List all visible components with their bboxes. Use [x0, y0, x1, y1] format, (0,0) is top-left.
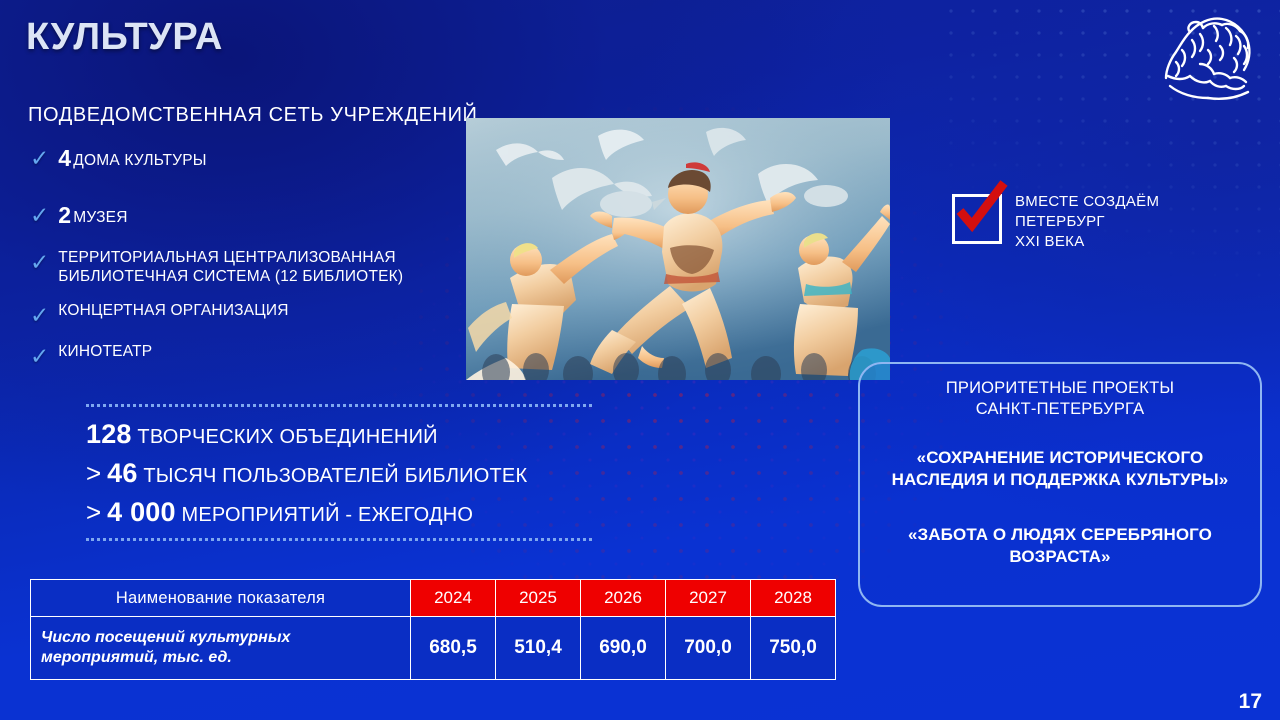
indicator-value: 700,0: [666, 617, 751, 680]
column-header-year: 2027: [666, 580, 751, 617]
stat-prefix: >: [86, 497, 101, 527]
dancers-photo: [466, 118, 890, 380]
table-row: Число посещений культурных мероприятий, …: [31, 617, 836, 680]
list-item: ✓ 2МУЗЕЯ: [30, 202, 500, 229]
list-item-label: КОНЦЕРТНАЯ ОРГАНИЗАЦИЯ: [58, 302, 288, 320]
stat-label: ТЫСЯЧ ПОЛЬЗОВАТЕЛЕЙ БИБЛИОТЕК: [143, 465, 527, 487]
stat-row: 128 ТВОРЧЕСКИХ ОБЪЕДИНЕНИЙ: [86, 415, 592, 454]
section-subtitle: ПОДВЕДОМСТВЕННАЯ СЕТЬ УЧРЕЖДЕНИЙ: [28, 104, 478, 127]
list-item-label: ДОМА КУЛЬТУРЫ: [73, 152, 206, 169]
priority-project-2: «ЗАБОТА О ЛЮДЯХ СЕРЕБРЯНОГО ВОЗРАСТА»: [876, 524, 1244, 568]
stat-label: ТВОРЧЕСКИХ ОБЪЕДИНЕНИЙ: [137, 426, 437, 448]
stat-value: 4 000: [107, 497, 176, 527]
checkbox-frame-icon: [952, 194, 1002, 244]
page-title: КУЛЬТУРА: [26, 16, 223, 59]
pushkin-profile-emblem-icon: [1156, 6, 1264, 110]
logo-line-2: ПЕТЕРБУРГ: [1015, 212, 1159, 232]
together-building-petersburg-logo: ВМЕСТЕ СОЗДАЁМ ПЕТЕРБУРГ XXI ВЕКА: [952, 192, 1159, 251]
column-header-year: 2025: [496, 580, 581, 617]
page-number: 17: [1239, 690, 1262, 714]
column-header-year: 2026: [581, 580, 666, 617]
list-item-label: КИНОТЕАТР: [58, 343, 152, 361]
indicator-value: 750,0: [751, 617, 836, 680]
priority-project-1: «СОХРАНЕНИЕ ИСТОРИЧЕСКОГО НАСЛЕДИЯ И ПОД…: [876, 447, 1244, 491]
check-icon: ✓: [30, 147, 49, 170]
list-item-label: МУЗЕЯ: [73, 209, 127, 226]
column-header-year: 2024: [411, 580, 496, 617]
stat-row: > 4 000 МЕРОПРИЯТИЙ - ЕЖЕГОДНО: [86, 493, 592, 532]
column-header-name: Наименование показателя: [31, 580, 411, 617]
list-item: ✓ КИНОТЕАТР: [30, 343, 500, 368]
indicator-value: 510,4: [496, 617, 581, 680]
check-icon: ✓: [30, 304, 49, 327]
stat-label: МЕРОПРИЯТИЙ - ЕЖЕГОДНО: [182, 504, 474, 526]
stat-prefix: >: [86, 458, 101, 488]
indicators-table: Наименование показателя 2024 2025 2026 2…: [30, 579, 836, 680]
list-item-label: ТЕРРИТОРИАЛЬНАЯ ЦЕНТРАЛИЗОВАННАЯ БИБЛИОТ…: [58, 249, 500, 286]
list-item: ✓ ТЕРРИТОРИАЛЬНАЯ ЦЕНТРАЛИЗОВАННАЯ БИБЛИ…: [30, 249, 500, 286]
logo-line-3: XXI ВЕКА: [1015, 232, 1159, 252]
institution-network-list: ✓ 4ДОМА КУЛЬТУРЫ ✓ 2МУЗЕЯ ✓ ТЕРРИТОРИАЛЬ…: [30, 145, 500, 382]
check-icon: ✓: [30, 204, 49, 227]
check-icon: ✓: [30, 345, 49, 368]
priority-projects-panel: ПРИОРИТЕТНЫЕ ПРОЕКТЫ САНКТ-ПЕТЕРБУРГА «С…: [858, 362, 1262, 607]
logo-text: ВМЕСТЕ СОЗДАЁМ ПЕТЕРБУРГ XXI ВЕКА: [1015, 192, 1159, 251]
list-item: ✓ 4ДОМА КУЛЬТУРЫ: [30, 145, 500, 172]
indicator-value: 690,0: [581, 617, 666, 680]
panel-header-line-1: ПРИОРИТЕТНЫЕ ПРОЕКТЫ: [876, 378, 1244, 399]
list-item: ✓ КОНЦЕРТНАЯ ОРГАНИЗАЦИЯ: [30, 302, 500, 327]
list-item-number: 4: [58, 145, 71, 171]
stat-value: 46: [107, 458, 137, 488]
indicator-name: Число посещений культурных мероприятий, …: [31, 617, 411, 680]
logo-line-1: ВМЕСТЕ СОЗДАЁМ: [1015, 192, 1159, 212]
stat-value: 128: [86, 419, 132, 449]
list-item-number: 2: [58, 202, 71, 228]
check-icon: ✓: [30, 251, 49, 274]
table-header-row: Наименование показателя 2024 2025 2026 2…: [31, 580, 836, 617]
red-checkmark-icon: [950, 181, 1008, 239]
slide-root: КУЛЬТУРА: [0, 0, 1280, 720]
indicator-value: 680,5: [411, 617, 496, 680]
panel-header-line-2: САНКТ-ПЕТЕРБУРГА: [876, 399, 1244, 420]
key-figures-block: 128 ТВОРЧЕСКИХ ОБЪЕДИНЕНИЙ > 46 ТЫСЯЧ ПО…: [86, 404, 592, 541]
stat-row: > 46 ТЫСЯЧ ПОЛЬЗОВАТЕЛЕЙ БИБЛИОТЕК: [86, 454, 592, 493]
column-header-year: 2028: [751, 580, 836, 617]
